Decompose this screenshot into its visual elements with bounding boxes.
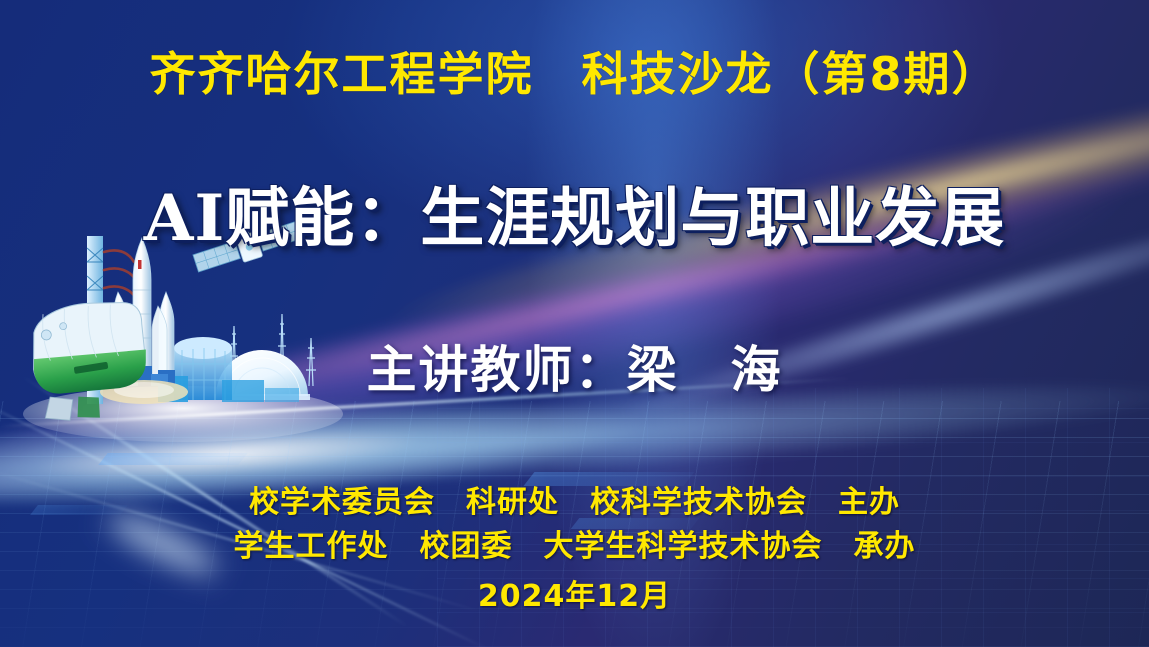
event-date: 2024年12月	[0, 571, 1149, 615]
event-series-header: 齐齐哈尔工程学院 科技沙龙（第8期）	[0, 38, 1149, 104]
organizer-line-host: 校学术委员会 科研处 校科学技术协会 主办	[0, 477, 1149, 521]
speaker-name-line: 主讲教师：梁 海	[0, 330, 1149, 402]
rocket-marking	[138, 260, 142, 269]
page-title: AI赋能：生涯规划与职业发展	[0, 167, 1149, 259]
presentation-title-slide: 齐齐哈尔工程学院 科技沙龙（第8期） AI赋能：生涯规划与职业发展 主讲教师：梁…	[0, 0, 1149, 647]
grid-panel-highlight	[99, 453, 248, 465]
organizer-line-coorganizer: 学生工作处 校团委 大学生科学技术协会 承办	[0, 521, 1149, 565]
